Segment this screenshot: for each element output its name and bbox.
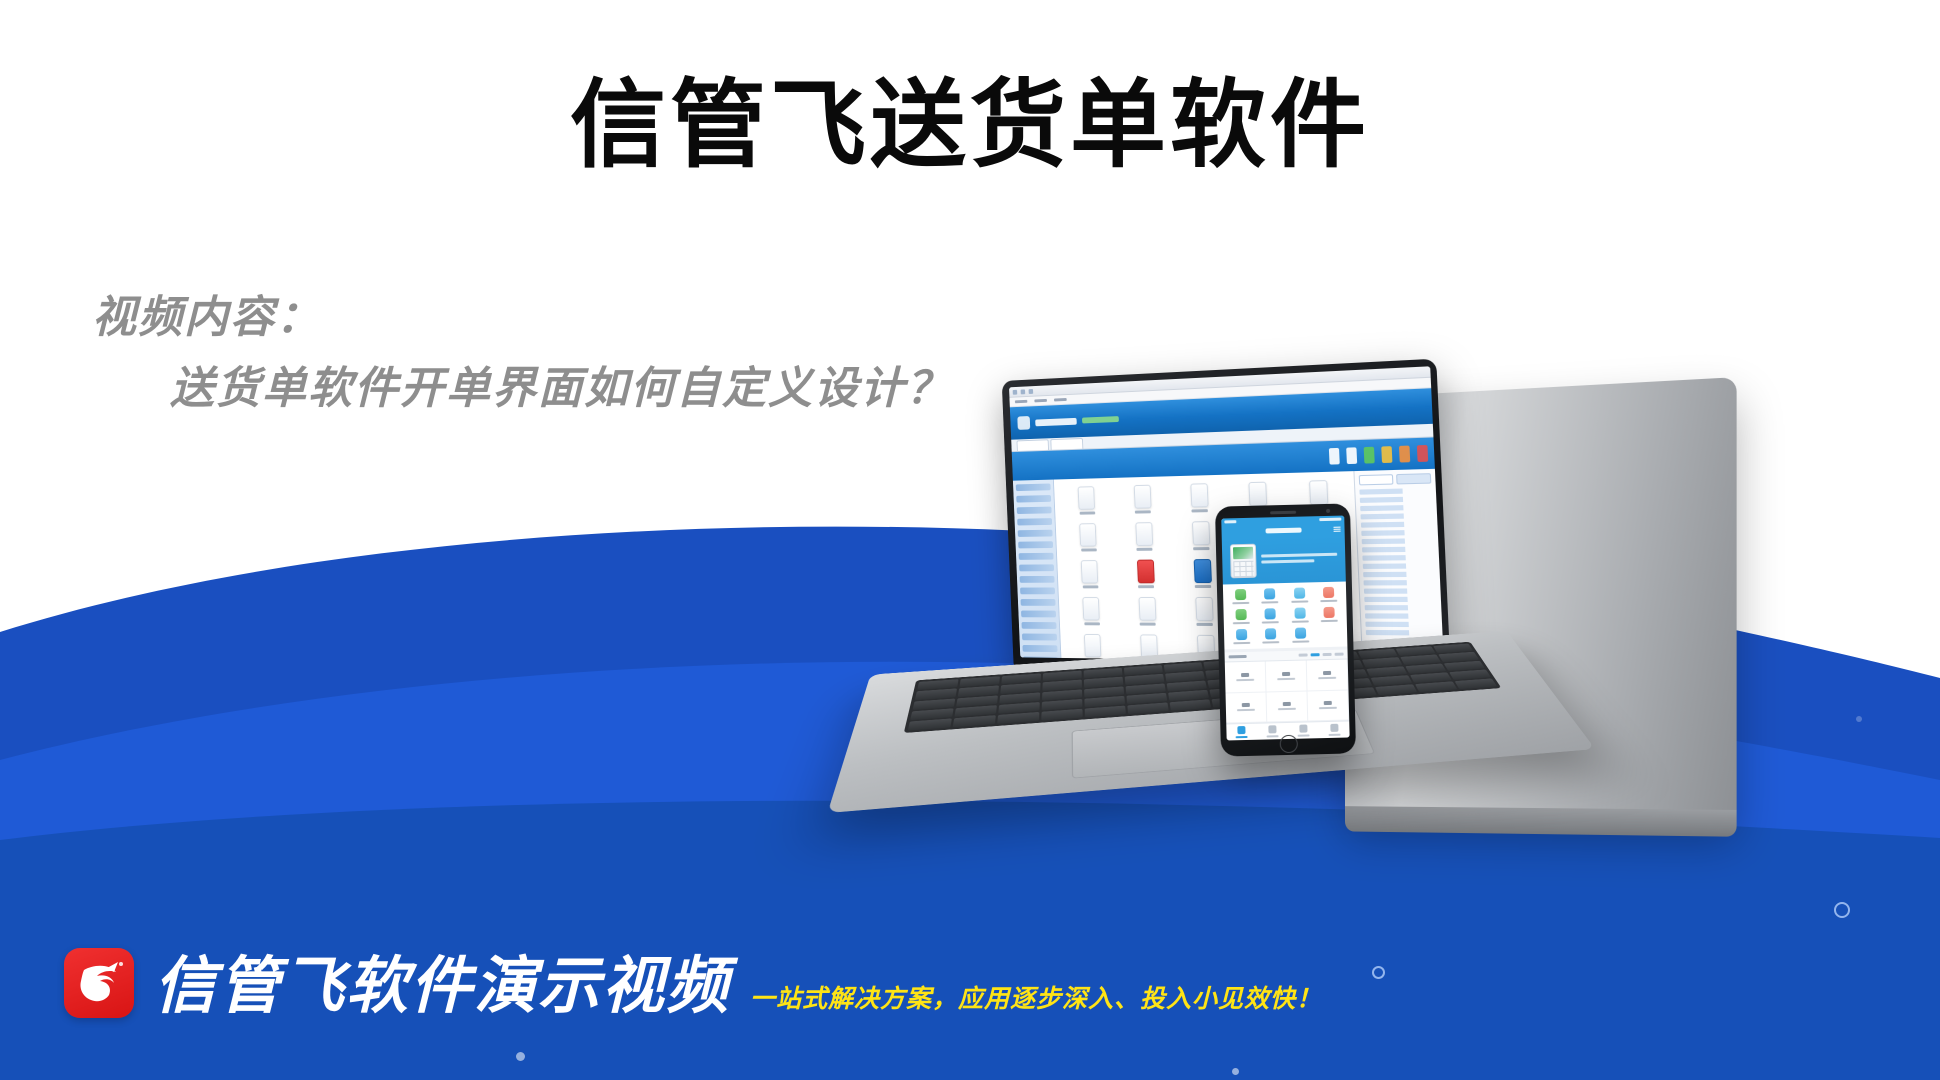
sidebar-item[interactable] — [1016, 495, 1051, 503]
right-panel-row[interactable] — [1365, 622, 1438, 628]
sidebar-item[interactable] — [1020, 576, 1055, 583]
sidebar-item[interactable] — [1021, 599, 1056, 606]
mobile-grid-item[interactable] — [1315, 607, 1343, 623]
nav-tab-profile[interactable] — [1319, 721, 1350, 738]
app-logo-icon — [1017, 416, 1030, 430]
menu-item[interactable] — [1015, 400, 1028, 403]
stats-filter-tab[interactable] — [1299, 653, 1308, 656]
mobile-app-title — [1265, 528, 1301, 534]
device-mockup-group — [880, 370, 1940, 950]
mobile-grid-item[interactable] — [1257, 628, 1285, 644]
app-brand-text — [1035, 417, 1077, 425]
sidebar-item[interactable] — [1016, 483, 1051, 491]
toolbar-icon[interactable] — [1417, 445, 1428, 462]
module-icon[interactable] — [1061, 523, 1116, 559]
right-panel-row[interactable] — [1365, 605, 1438, 610]
stat-cell[interactable] — [1307, 659, 1349, 690]
module-icon[interactable] — [1119, 597, 1175, 633]
sidebar-item[interactable] — [1021, 611, 1056, 618]
right-panel-row[interactable] — [1363, 572, 1435, 578]
right-panel-row[interactable] — [1361, 513, 1433, 520]
toolbar-icon[interactable] — [1364, 447, 1375, 464]
right-panel-row[interactable] — [1362, 555, 1434, 561]
sidebar-item[interactable] — [1019, 564, 1054, 571]
right-panel-row[interactable] — [1360, 505, 1432, 512]
phone-home-button[interactable] — [1279, 735, 1297, 753]
right-panel-tab[interactable] — [1396, 473, 1431, 484]
mobile-grid-item[interactable] — [1286, 607, 1314, 623]
sidebar-item[interactable] — [1018, 541, 1053, 548]
subtitle-block: 视频内容： 送货单软件开单界面如何自定义设计？ — [92, 282, 952, 425]
module-icon[interactable] — [1060, 486, 1115, 522]
sidebar-item[interactable] — [1022, 634, 1057, 641]
app-brand-subtext — [1082, 416, 1119, 423]
stat-cell[interactable] — [1307, 690, 1349, 721]
app-tab[interactable] — [1017, 439, 1049, 451]
module-icon[interactable] — [1063, 560, 1118, 595]
sidebar-item[interactable] — [1021, 622, 1056, 629]
right-panel-row[interactable] — [1364, 597, 1437, 602]
open-laptop — [880, 370, 1520, 930]
right-panel-row[interactable] — [1366, 630, 1439, 636]
right-panel-row[interactable] — [1361, 530, 1433, 536]
mobile-grid-item[interactable] — [1227, 589, 1255, 605]
right-panel-row[interactable] — [1360, 496, 1432, 503]
titlebar-icon — [1013, 389, 1018, 394]
mobile-stats-grid — [1225, 659, 1349, 723]
module-icon[interactable] — [1064, 597, 1119, 632]
mobile-icon-grid[interactable] — [1223, 582, 1348, 653]
menu-item[interactable] — [1034, 399, 1047, 402]
menu-item[interactable] — [1054, 398, 1067, 401]
brand-name: 信管飞软件演示视频 — [154, 956, 730, 1018]
right-panel-row[interactable] — [1363, 580, 1436, 585]
status-indicators-icon — [1319, 518, 1341, 522]
xinguanfei-bird-logo-icon — [64, 948, 134, 1018]
laptop-base — [827, 631, 1595, 813]
right-panel-row[interactable] — [1362, 546, 1434, 552]
nav-tab-home[interactable] — [1226, 724, 1257, 741]
stat-cell[interactable] — [1267, 691, 1309, 722]
stats-filter-tabs[interactable] — [1299, 653, 1344, 657]
right-panel-row[interactable] — [1361, 521, 1433, 527]
module-icon[interactable] — [1115, 484, 1171, 521]
page-title: 信管飞送货单软件 — [0, 72, 1940, 180]
mobile-grid-item[interactable] — [1227, 609, 1255, 625]
mobile-grid-item[interactable] — [1228, 629, 1256, 645]
toolbar-icon[interactable] — [1381, 446, 1392, 463]
sidebar-item[interactable] — [1017, 507, 1052, 514]
phone-screen — [1221, 516, 1349, 741]
mobile-grid-item[interactable] — [1315, 587, 1343, 603]
toolbar-icon[interactable] — [1346, 447, 1357, 464]
stats-filter-tab[interactable] — [1335, 653, 1344, 656]
mobile-grid-item[interactable] — [1285, 587, 1313, 603]
mobile-grid-item-empty — [1316, 627, 1344, 643]
mobile-hero-banner — [1222, 536, 1346, 585]
stats-filter-tab[interactable] — [1311, 653, 1320, 656]
stat-cell[interactable] — [1226, 692, 1268, 723]
stat-cell[interactable] — [1266, 660, 1308, 691]
app-tab[interactable] — [1050, 438, 1083, 450]
toolbar-icon[interactable] — [1329, 448, 1340, 465]
subtitle-label: 视频内容： — [92, 282, 952, 353]
right-panel-row[interactable] — [1365, 613, 1438, 618]
stat-cell[interactable] — [1225, 661, 1267, 692]
hero-phone-illustration-icon — [1230, 544, 1257, 579]
module-icon-red[interactable] — [1118, 559, 1174, 595]
mobile-grid-item[interactable] — [1256, 588, 1284, 604]
right-panel-row[interactable] — [1362, 538, 1434, 544]
stats-title — [1229, 655, 1247, 658]
titlebar-icon — [1021, 389, 1026, 394]
right-panel-tabs[interactable] — [1359, 473, 1432, 485]
mobile-grid-item[interactable] — [1257, 608, 1285, 624]
subtitle-content: 送货单软件开单界面如何自定义设计？ — [92, 353, 952, 424]
hamburger-menu-icon[interactable] — [1333, 526, 1340, 532]
right-panel-row[interactable] — [1364, 588, 1437, 593]
right-panel-tab[interactable] — [1359, 474, 1394, 485]
hero-text — [1261, 553, 1337, 567]
sidebar-item[interactable] — [1020, 587, 1055, 594]
phone-speaker — [1270, 511, 1296, 515]
right-panel-row[interactable] — [1363, 563, 1435, 569]
sidebar-item[interactable] — [1019, 553, 1054, 560]
status-carrier — [1224, 520, 1236, 523]
laptop-keyboard[interactable] — [904, 642, 1502, 733]
footer-brand-row: 信管飞软件演示视频 一站式解决方案，应用逐步深入、投入小见效快！ — [64, 948, 1322, 1018]
module-icon[interactable] — [1116, 522, 1172, 558]
sidebar-item[interactable] — [1017, 518, 1052, 525]
smartphone — [1215, 503, 1356, 756]
right-panel-row[interactable] — [1359, 488, 1431, 495]
footer-banner: 信管飞软件演示视频 一站式解决方案，应用逐步深入、投入小见效快！ — [0, 890, 1940, 1080]
sidebar-item[interactable] — [1022, 645, 1057, 652]
toolbar-icon[interactable] — [1399, 446, 1410, 463]
titlebar-icon — [1029, 389, 1034, 394]
sidebar-item[interactable] — [1018, 530, 1053, 537]
phone-camera-icon — [1326, 509, 1330, 513]
slide-root: 信管飞送货单软件 视频内容： 送货单软件开单界面如何自定义设计？ — [0, 0, 1940, 1080]
mobile-grid-item[interactable] — [1286, 627, 1314, 643]
brand-tagline: 一站式解决方案，应用逐步深入、投入小见效快！ — [750, 987, 1322, 1018]
app-right-panel[interactable] — [1353, 469, 1443, 663]
stats-filter-tab[interactable] — [1323, 653, 1332, 656]
